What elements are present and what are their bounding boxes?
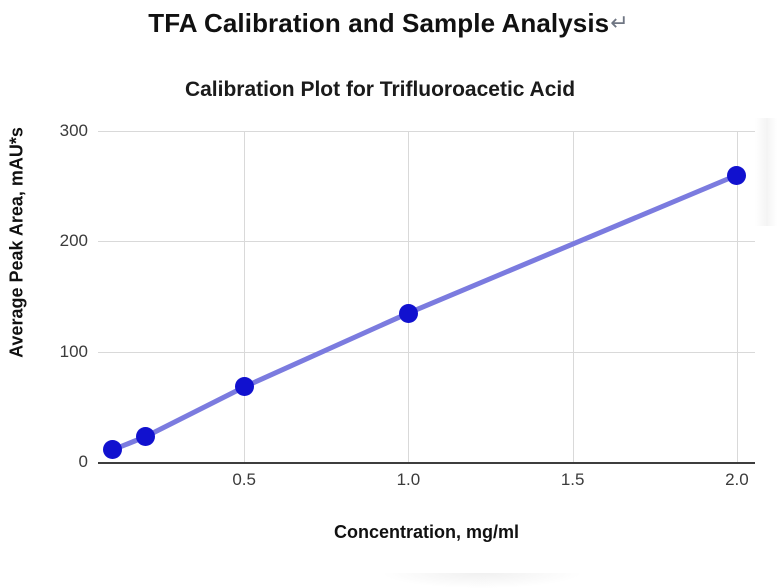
- x-tick-label: 0.5: [209, 470, 279, 490]
- x-tick-label: 2.0: [702, 470, 772, 490]
- y-axis-tick-labels: 0100200300: [26, 0, 88, 588]
- chart-title: Calibration Plot for Trifluoroacetic Aci…: [0, 78, 760, 102]
- x-axis-title: Concentration, mg/ml: [98, 522, 755, 543]
- y-tick-label: 200: [32, 231, 88, 251]
- page-shadow-artifact: [384, 573, 580, 588]
- data-point: [727, 166, 746, 185]
- x-tick-label: 1.0: [373, 470, 443, 490]
- y-axis-title: Average Peak Area, mAU*s: [7, 118, 28, 368]
- series-line: [98, 131, 755, 462]
- page-edge-artifact: [755, 118, 777, 226]
- y-tick-label: 0: [32, 452, 88, 472]
- data-point: [399, 304, 418, 323]
- x-tick-label: 1.5: [538, 470, 608, 490]
- calibration-chart: Calibration Plot for Trifluoroacetic Aci…: [0, 0, 777, 588]
- x-axis-line: [98, 462, 755, 464]
- y-tick-label: 300: [32, 121, 88, 141]
- y-tick-label: 100: [32, 342, 88, 362]
- plot-area: [98, 131, 755, 462]
